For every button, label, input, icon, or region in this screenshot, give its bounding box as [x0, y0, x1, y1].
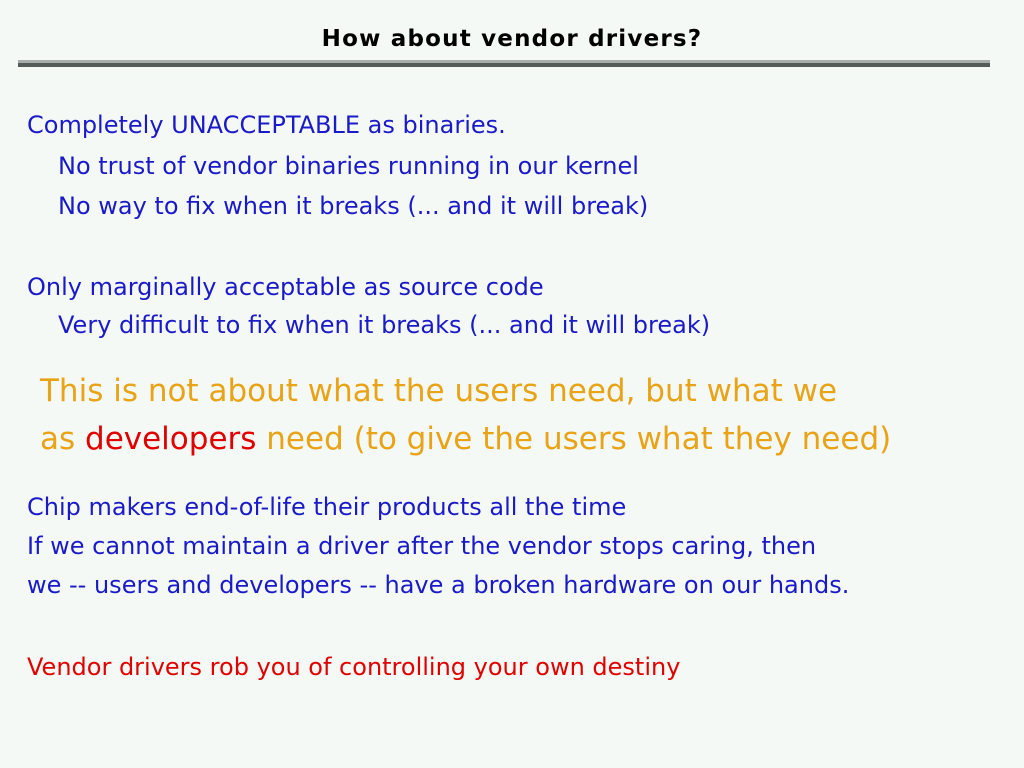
source-heading: Only marginally acceptable as source cod…: [27, 275, 544, 299]
emphasis-line-2-prefix: as: [40, 421, 85, 457]
emphasis-line-2: as developers need (to give the users wh…: [40, 424, 891, 455]
binaries-heading: Completely UNACCEPTABLE as binaries.: [27, 113, 506, 137]
emphasis-line-1: This is not about what the users need, b…: [40, 376, 837, 407]
closing-line: Vendor drivers rob you of controlling yo…: [27, 655, 680, 679]
title-divider: [18, 60, 990, 67]
slide-title: How about vendor drivers?: [0, 26, 1024, 52]
emphasis-keyword-developers: developers: [85, 421, 256, 457]
binaries-point-1: No trust of vendor binaries running in o…: [58, 154, 639, 178]
paragraph-line-2: If we cannot maintain a driver after the…: [27, 534, 816, 558]
binaries-point-2: No way to fix when it breaks (... and it…: [58, 194, 648, 218]
emphasis-line-2-suffix: need (to give the users what they need): [256, 421, 891, 457]
title-divider-bottom: [18, 63, 990, 67]
slide-canvas: How about vendor drivers? Completely UNA…: [0, 0, 1024, 768]
paragraph-line-3: we -- users and developers -- have a bro…: [27, 573, 849, 597]
source-point-1: Very difficult to fix when it breaks (..…: [58, 313, 710, 337]
paragraph-line-1: Chip makers end-of-life their products a…: [27, 495, 626, 519]
